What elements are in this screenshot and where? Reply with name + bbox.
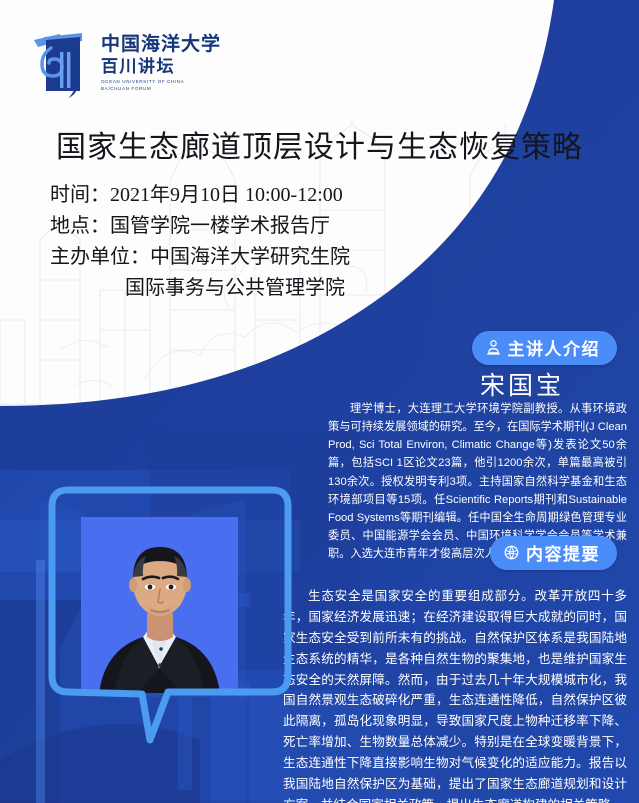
abstract-section-heading: 内容提要 — [490, 536, 617, 570]
poster-canvas: 中国海洋大学 百川讲坛 OCEAN UNIVERSITY OF CHINA BA… — [0, 0, 639, 803]
ouc-baichuan-logo-icon — [30, 28, 92, 98]
brand-logo: 中国海洋大学 百川讲坛 OCEAN UNIVERSITY OF CHINA BA… — [30, 28, 221, 98]
speech-bubble-frame-icon — [46, 472, 294, 764]
speaker-person-icon — [485, 339, 502, 356]
speaker-section-heading: 主讲人介绍 — [472, 331, 618, 365]
logo-forum-en: BAICHUAN FORUM — [101, 87, 221, 92]
speaker-name: 宋国宝 — [427, 366, 617, 402]
abstract-text: 生态安全是国家安全的重要组成部分。改革开放四十多年，国家经济发展迅速；在经济建设… — [283, 586, 627, 803]
logo-university-en: OCEAN UNIVERSITY OF CHINA — [101, 80, 221, 85]
event-details: 时间：2021年9月10日 10:00-12:00 地点：国管学院一楼学术报告厅… — [50, 180, 350, 304]
event-organizer-line1: 主办单位：中国海洋大学研究生院 — [50, 242, 350, 273]
event-time: 时间：2021年9月10日 10:00-12:00 — [50, 180, 350, 211]
event-organizer-line2: 国际事务与公共管理学院 — [50, 273, 350, 304]
globe-content-icon — [503, 544, 520, 561]
poster-title: 国家生态廊道顶层设计与生态恢复策略 — [0, 122, 639, 166]
speaker-section-label: 主讲人介绍 — [508, 335, 601, 360]
abstract-section-label: 内容提要 — [526, 540, 600, 565]
logo-university-cn: 中国海洋大学 — [101, 35, 221, 54]
event-place: 地点：国管学院一楼学术报告厅 — [50, 211, 350, 242]
logo-forum-cn: 百川讲坛 — [101, 58, 221, 75]
